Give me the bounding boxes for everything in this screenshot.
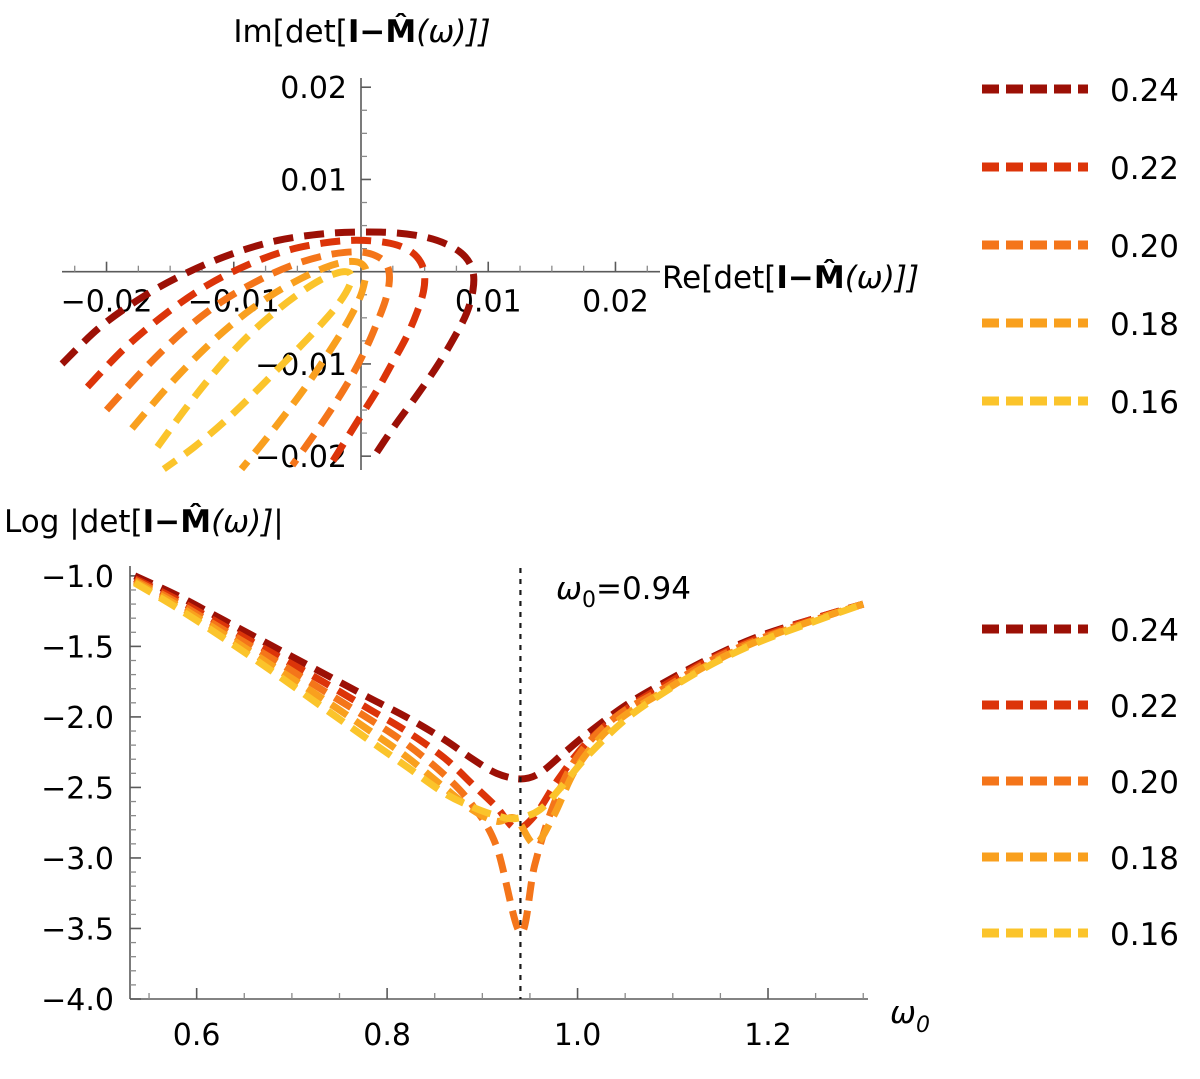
legend-bottom-label: 0.16 (1110, 917, 1179, 953)
top-y-tick-label: 0.02 (280, 71, 347, 106)
legend-top-item[interactable]: 0.24 (982, 73, 1179, 109)
legend-bottom-label: 0.24 (1110, 613, 1179, 649)
legend-bottom-label: 0.20 (1110, 765, 1179, 801)
top-yaxis-title: Im[det[I−M̂(ω)]] (233, 14, 490, 50)
log-determinant-vs-omega-plot: 0.60.81.01.2−1.0−1.5−2.0−2.5−3.0−3.5−4.0… (0, 494, 960, 1079)
bottom-y-tick-label: −2.0 (41, 701, 114, 736)
bottom-x-tick-label: 1.2 (744, 1018, 792, 1053)
legend-bottom-item[interactable]: 0.18 (982, 841, 1179, 877)
logdet-curve (135, 583, 863, 819)
legend-top-label: 0.16 (1110, 385, 1179, 421)
bottom-xaxis-title: ω0 (890, 995, 930, 1038)
top-xaxis-title: Re[det[I−M̂(ω)]] (662, 260, 919, 296)
bottom-y-tick-label: −4.0 (41, 983, 114, 1018)
legend-top-label: 0.18 (1110, 307, 1179, 343)
bottom-yaxis-title: Log |det[I−M̂(ω)]| (4, 504, 284, 540)
legend-bottom-item[interactable]: 0.20 (982, 765, 1179, 801)
bottom-x-tick-label: 1.0 (554, 1018, 602, 1053)
figure-root: −0.02−0.010.010.020.020.01−0.01−0.02 Im[… (0, 0, 1200, 1079)
top-axes-group: −0.02−0.010.010.020.020.01−0.01−0.02 (61, 71, 660, 475)
bottom-y-tick-label: −1.0 (41, 560, 114, 595)
legend-bottom-item[interactable]: 0.16 (982, 917, 1179, 953)
legend-top-label: 0.20 (1110, 229, 1179, 265)
legend-bottom-label: 0.22 (1110, 689, 1179, 725)
legend-bottom-item[interactable]: 0.24 (982, 613, 1179, 649)
bottom-y-tick-label: −1.5 (41, 630, 114, 665)
bottom-y-tick-label: −2.5 (41, 771, 114, 806)
omega-zero-annotation: ω0=0.94 (556, 571, 691, 613)
nyquist-curve (62, 232, 474, 461)
legend-top: 0.240.220.200.180.16 (960, 60, 1200, 430)
bottom-y-tick-label: −3.5 (41, 912, 114, 947)
legend-top-item[interactable]: 0.22 (982, 151, 1179, 187)
legend-top-item[interactable]: 0.20 (982, 229, 1179, 265)
logdet-curve (135, 579, 863, 829)
top-y-tick-label: −0.01 (255, 348, 347, 383)
legend-bottom-label: 0.18 (1110, 841, 1179, 877)
legend-top-item[interactable]: 0.16 (982, 385, 1179, 421)
bottom-x-tick-label: 0.8 (363, 1018, 411, 1053)
logdet-curve (135, 582, 863, 844)
logdet-curve (135, 576, 863, 779)
top-y-tick-label: 0.01 (280, 163, 347, 198)
bottom-axes-group: 0.60.81.01.2−1.0−1.5−2.0−2.5−3.0−3.5−4.0 (41, 560, 868, 1053)
bottom-curves-group (135, 576, 863, 933)
legend-top-label: 0.24 (1110, 73, 1179, 109)
legend-top-item[interactable]: 0.18 (982, 307, 1179, 343)
top-x-tick-label: 0.02 (582, 285, 649, 320)
legend-top-label: 0.22 (1110, 151, 1179, 187)
nyquist-complex-plane-plot: −0.02−0.010.010.020.020.01−0.01−0.02 Im[… (0, 0, 960, 500)
bottom-y-tick-label: −3.0 (41, 842, 114, 877)
legend-bottom-item[interactable]: 0.22 (982, 689, 1179, 725)
legend-bottom: 0.240.220.200.180.16 (960, 600, 1200, 950)
bottom-x-tick-label: 0.6 (173, 1018, 221, 1053)
